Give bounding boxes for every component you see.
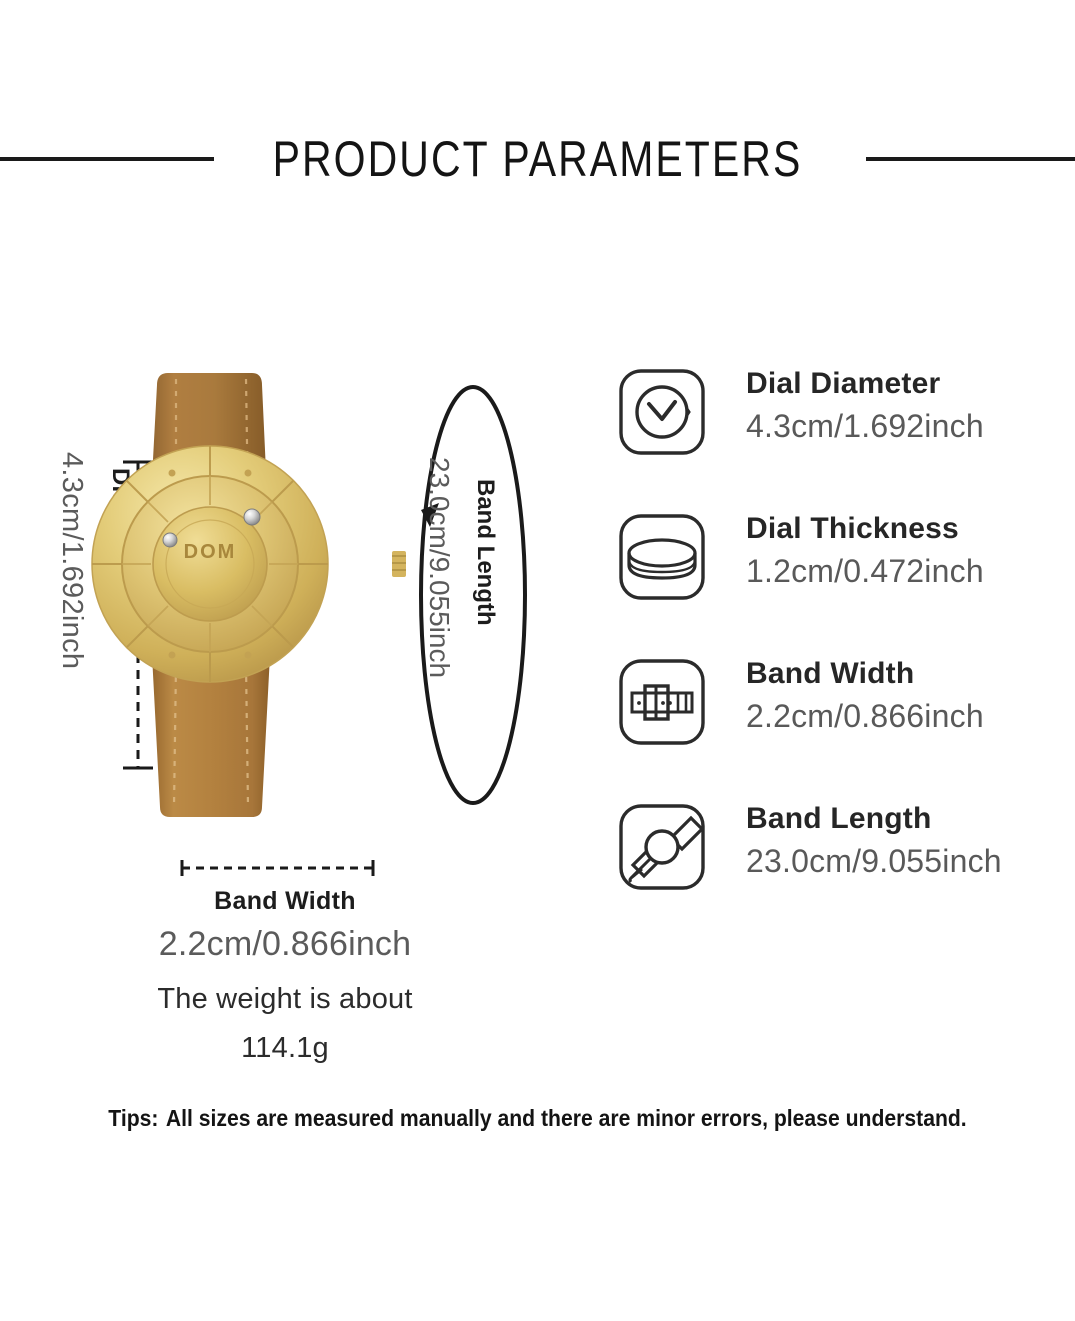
- watch-case: DOM: [92, 446, 328, 682]
- brand-mark: DOM: [184, 541, 237, 563]
- tips-note: Tips:All sizes are measured manually and…: [43, 1105, 1032, 1132]
- spec-text: Dial Thickness 1.2cm/0.472inch: [746, 509, 1058, 593]
- band-width-value: 2.2cm/0.866inch: [0, 925, 570, 964]
- weight-value: 114.1g: [0, 1032, 570, 1065]
- spec-value: 2.2cm/0.866inch: [746, 694, 1058, 738]
- band-length-annotation: 23.0cm/9.055inch Band Length: [405, 375, 540, 815]
- spec-label: Band Width: [746, 654, 1058, 694]
- tips-text: All sizes are measured manually and ther…: [166, 1105, 967, 1131]
- spec-row-band-width: Band Width 2.2cm/0.866inch: [618, 658, 1058, 778]
- spec-label: Band Length: [746, 799, 1058, 839]
- spec-label: Dial Diameter: [746, 364, 1058, 404]
- spec-text: Band Width 2.2cm/0.866inch: [746, 654, 1058, 738]
- dial-thickness-puck-icon: [618, 513, 706, 601]
- watch-crown: [392, 551, 406, 577]
- band-length-label: Band Length: [473, 479, 497, 626]
- title-rule-right: [866, 157, 1075, 161]
- band-length-strap-icon: [618, 803, 706, 891]
- band-width-buckle-icon: [618, 658, 706, 746]
- page-header: PRODUCT PARAMETERS: [0, 128, 1075, 190]
- band-width-label: Band Width: [0, 887, 570, 916]
- weight-description: The weight is about: [0, 983, 570, 1016]
- tips-prefix: Tips:: [108, 1105, 158, 1131]
- spec-value: 4.3cm/1.692inch: [746, 404, 1058, 448]
- spec-value: 23.0cm/9.055inch: [746, 839, 1058, 883]
- spec-row-dial-diameter: Dial Diameter 4.3cm/1.692inch: [618, 368, 1058, 488]
- band-length-value: 23.0cm/9.055inch: [425, 457, 453, 678]
- spec-text: Dial Diameter 4.3cm/1.692inch: [746, 364, 1058, 448]
- spec-text: Band Length 23.0cm/9.055inch: [746, 799, 1058, 883]
- spec-label: Dial Thickness: [746, 509, 1058, 549]
- watch-dial-clock-icon: [618, 368, 706, 456]
- horizontal-dimension-line-icon: [180, 859, 375, 877]
- spec-list: Dial Diameter 4.3cm/1.692inch Dial Thick…: [618, 368, 1058, 888]
- watch-illustration: 4.3cm/1.692inch Dial Diameter: [0, 355, 600, 915]
- spec-row-dial-thickness: Dial Thickness 1.2cm/0.472inch: [618, 513, 1058, 633]
- page-title: PRODUCT PARAMETERS: [97, 128, 979, 190]
- band-width-block: Band Width 2.2cm/0.866inch The weight is…: [0, 855, 600, 1085]
- spec-row-band-length: Band Length 23.0cm/9.055inch: [618, 803, 1058, 923]
- spec-value: 1.2cm/0.472inch: [746, 549, 1058, 593]
